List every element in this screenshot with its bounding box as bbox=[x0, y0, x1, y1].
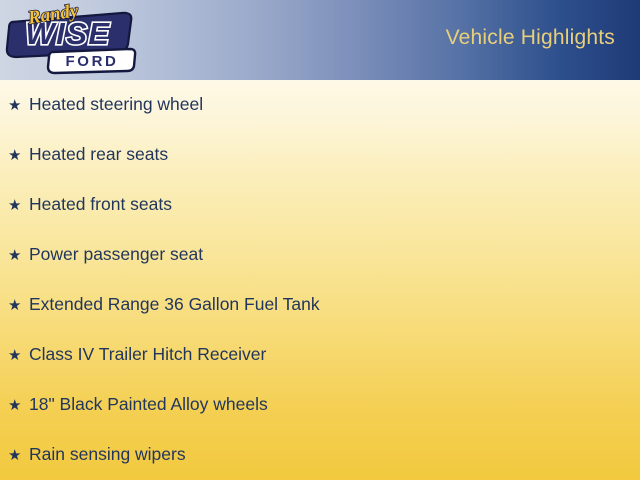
star-icon: ★ bbox=[8, 248, 29, 263]
star-icon: ★ bbox=[8, 348, 29, 363]
list-item-label: Heated front seats bbox=[29, 196, 172, 214]
vehicle-highlights-list: ★ Heated steering wheel ★ Heated rear se… bbox=[0, 80, 640, 480]
star-icon: ★ bbox=[8, 398, 29, 413]
list-item: ★ Heated steering wheel bbox=[8, 92, 203, 118]
list-item-label: 18" Black Painted Alloy wheels bbox=[29, 396, 268, 414]
star-icon: ★ bbox=[8, 98, 29, 113]
slide-header: WISE FORD Randy Vehicle Highlights bbox=[0, 0, 640, 80]
list-item: ★ Class IV Trailer Hitch Receiver bbox=[8, 342, 266, 368]
star-icon: ★ bbox=[8, 448, 29, 463]
page-title: Vehicle Highlights bbox=[446, 26, 615, 50]
vehicle-highlights-slide: WISE FORD Randy Vehicle Highlights ★ Hea… bbox=[0, 0, 640, 480]
logo-artwork: WISE FORD Randy bbox=[2, 0, 140, 80]
list-item: ★ Extended Range 36 Gallon Fuel Tank bbox=[8, 292, 320, 318]
list-item-label: Heated steering wheel bbox=[29, 96, 203, 114]
list-item-label: Power passenger seat bbox=[29, 246, 203, 264]
svg-text:FORD: FORD bbox=[66, 53, 119, 70]
list-item: ★ 18" Black Painted Alloy wheels bbox=[8, 392, 268, 418]
list-item-label: Extended Range 36 Gallon Fuel Tank bbox=[29, 296, 320, 314]
list-item: ★ Rain sensing wipers bbox=[8, 442, 186, 468]
randy-wise-ford-logo: WISE FORD Randy bbox=[2, 0, 140, 80]
list-item: ★ Power passenger seat bbox=[8, 242, 203, 268]
list-item: ★ Heated front seats bbox=[8, 192, 172, 218]
star-icon: ★ bbox=[8, 198, 29, 213]
list-item-label: Class IV Trailer Hitch Receiver bbox=[29, 346, 266, 364]
list-item-label: Rain sensing wipers bbox=[29, 446, 186, 464]
list-item-label: Heated rear seats bbox=[29, 146, 168, 164]
list-item: ★ Heated rear seats bbox=[8, 142, 168, 168]
star-icon: ★ bbox=[8, 148, 29, 163]
star-icon: ★ bbox=[8, 298, 29, 313]
